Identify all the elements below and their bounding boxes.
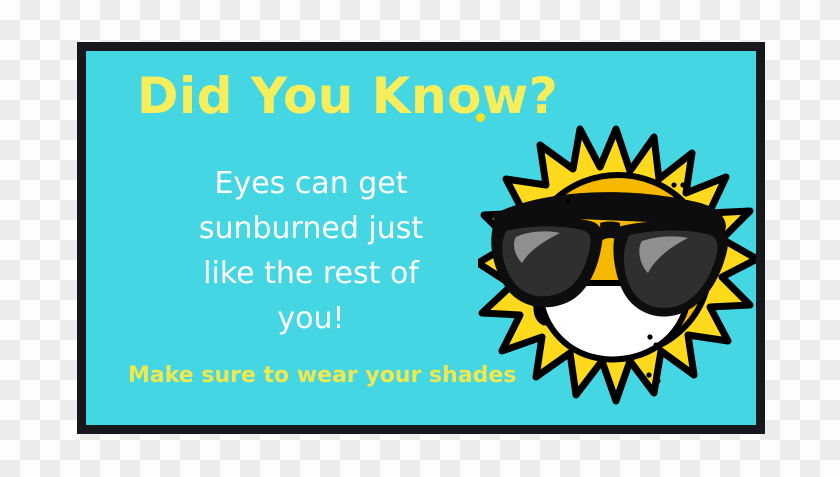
image-canvas: Did You Know? Eyes can get sunburned jus… (0, 0, 840, 477)
card-title: Did You Know? (137, 69, 558, 124)
body-line-2: sunburned just (121, 206, 501, 251)
sun-illustration (478, 123, 758, 423)
card-tagline: Make sure to wear your shades (128, 363, 516, 388)
sparkle-dot-icon (476, 113, 485, 122)
did-you-know-card: Did You Know? Eyes can get sunburned jus… (77, 42, 765, 434)
card-body-text: Eyes can get sunburned just like the res… (121, 161, 501, 341)
body-line-4: you! (121, 296, 501, 341)
body-line-3: like the rest of (121, 251, 501, 296)
body-line-1: Eyes can get (121, 161, 501, 206)
